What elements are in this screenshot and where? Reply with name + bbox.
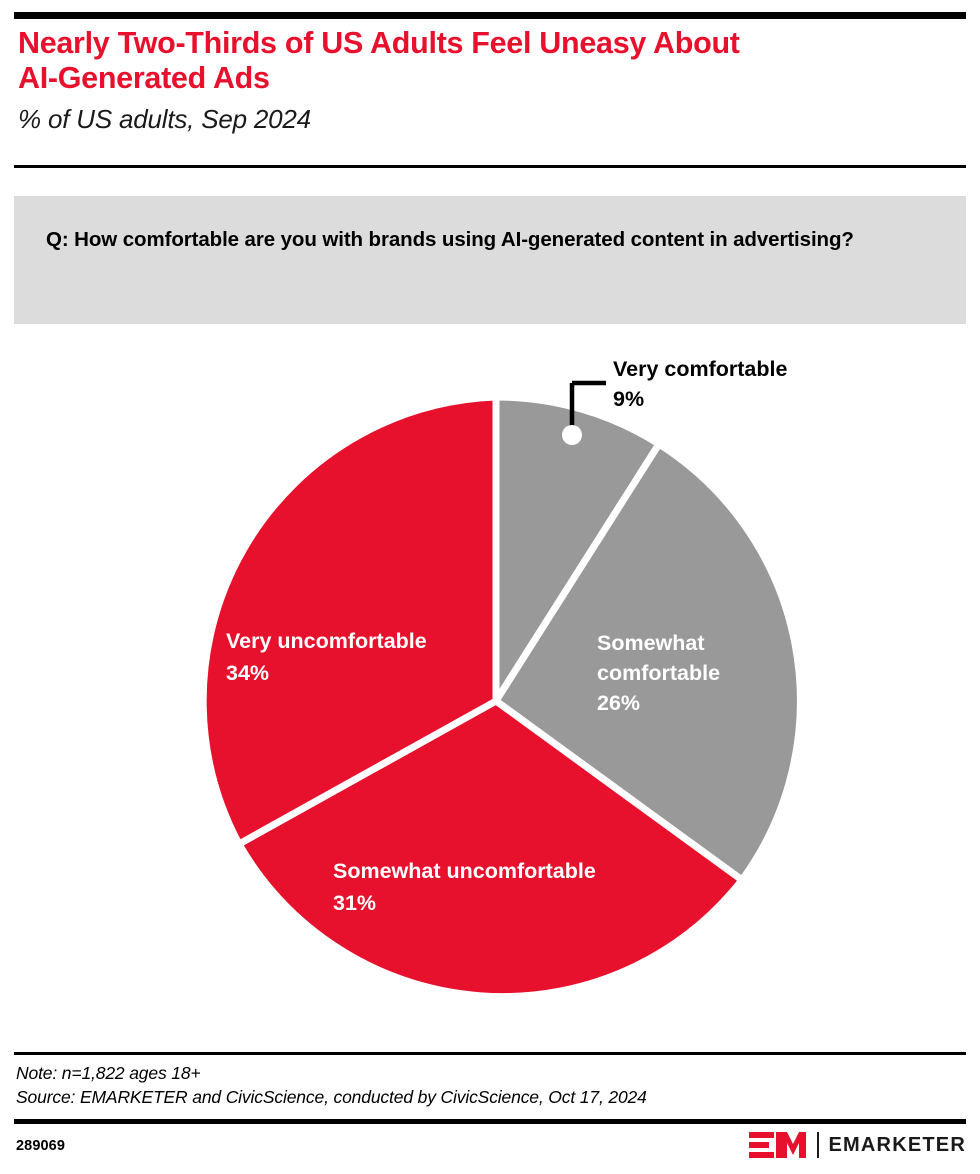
- slice-label-somewhat-comfortable-line1: Somewhat: [597, 631, 705, 655]
- pie-chart: Very comfortable 9% Somewhat comfortable…: [0, 330, 980, 1030]
- brand-row: 289069 EMARKETER: [14, 1130, 966, 1164]
- slice-label-very-uncomfortable-value: 34%: [226, 661, 269, 685]
- slice-label-somewhat-comfortable-line2: comfortable: [597, 661, 720, 685]
- footer-notes: Note: n=1,822 ages 18+ Source: EMARKETER…: [16, 1062, 956, 1110]
- logo-wordmark: EMARKETER: [829, 1134, 966, 1157]
- page-title: Nearly Two-Thirds of US Adults Feel Unea…: [18, 26, 962, 96]
- header-divider: [14, 165, 966, 168]
- chart-page: Nearly Two-Thirds of US Adults Feel Unea…: [0, 0, 980, 1174]
- note-text: Note: n=1,822 ages 18+: [16, 1062, 956, 1086]
- brand-divider: [14, 1119, 966, 1124]
- chart-header: Nearly Two-Thirds of US Adults Feel Unea…: [18, 26, 962, 135]
- top-rule: [14, 12, 966, 19]
- slice-label-somewhat-uncomfortable-value: 31%: [333, 891, 376, 915]
- question-text: Q: How comfortable are you with brands u…: [46, 226, 936, 254]
- footer-top-divider: [14, 1052, 966, 1055]
- callout-dot-marker: [562, 425, 582, 445]
- pie-chart-svg: Very comfortable 9% Somewhat comfortable…: [0, 330, 980, 1030]
- page-subtitle: % of US adults, Sep 2024: [18, 104, 962, 135]
- source-text: Source: EMARKETER and CivicScience, cond…: [16, 1086, 956, 1110]
- question-panel: Q: How comfortable are you with brands u…: [14, 196, 966, 324]
- emarketer-logo[interactable]: EMARKETER: [749, 1130, 966, 1160]
- slice-label-somewhat-comfortable-value: 26%: [597, 691, 640, 715]
- slice-label-very-uncomfortable-name: Very uncomfortable: [226, 629, 427, 653]
- slice-label-very-comfortable-value: 9%: [613, 387, 644, 411]
- slice-label-somewhat-uncomfortable-name: Somewhat uncomfortable: [333, 859, 596, 883]
- em-logo-icon: [749, 1131, 807, 1159]
- slice-label-very-comfortable-name: Very comfortable: [613, 357, 787, 381]
- logo-divider: [817, 1132, 819, 1158]
- chart-id: 289069: [16, 1138, 65, 1154]
